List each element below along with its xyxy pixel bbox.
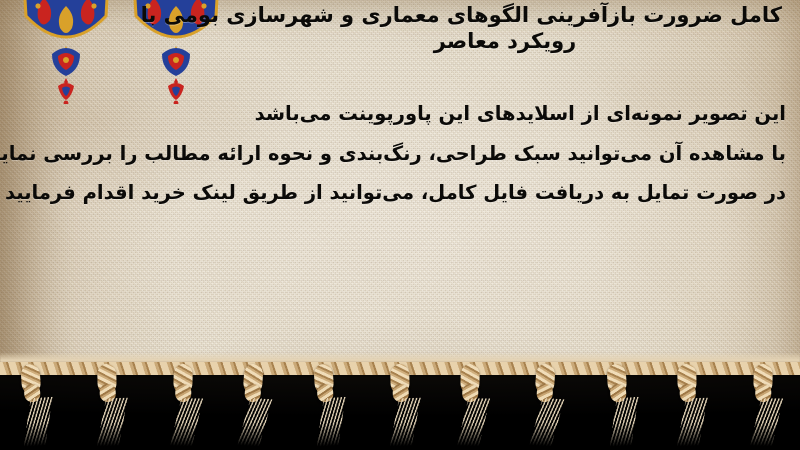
tassel-strands xyxy=(677,398,708,447)
tassel-strands xyxy=(170,398,203,446)
tassel-strands xyxy=(317,397,346,447)
body-line-3: در صورت تمایل به دریافت فایل کامل، می‌تو… xyxy=(30,183,786,203)
slide-title: کامل ضرورت بازآفرینی الگوهای معماری و شه… xyxy=(228,2,782,55)
tassel-strands xyxy=(750,398,783,446)
slide-body-text: این تصویر نمونه‌ای از اسلایدهای این پاور… xyxy=(30,104,786,223)
fringe-tassel xyxy=(528,361,564,449)
fringe-tassel xyxy=(168,362,200,449)
tassel-strands xyxy=(610,397,639,447)
tassel-strands xyxy=(24,397,53,447)
persian-illumination-medallion-icon xyxy=(18,0,114,104)
tassel-strands xyxy=(390,398,421,447)
body-line-1: این تصویر نمونه‌ای از اسلایدهای این پاور… xyxy=(30,104,786,124)
carpet-tassel-fringe-icon xyxy=(0,346,800,450)
fringe-tassel xyxy=(386,362,418,449)
fringe-tassel xyxy=(17,361,53,449)
body-line-2: با مشاهده آن می‌توانید سبک طراحی، رنگ‌بن… xyxy=(30,144,786,164)
tassel-strands xyxy=(97,398,128,447)
tassel-strands xyxy=(457,398,490,446)
fringe-tassel xyxy=(235,361,271,449)
slide-title-line-2: رویکرد معاصر xyxy=(228,28,782,54)
tassel-strands xyxy=(530,398,565,447)
fringe-tassel xyxy=(93,362,125,449)
tassel-strands xyxy=(237,398,272,447)
fringe-tassel-row xyxy=(0,362,800,450)
fringe-tassel xyxy=(673,362,705,449)
fringe-tassel xyxy=(309,361,345,449)
fringe-tassel xyxy=(455,362,487,449)
fringe-tassel xyxy=(602,361,638,449)
presentation-slide: کامل ضرورت بازآفرینی الگوهای معماری و شه… xyxy=(0,0,800,450)
fringe-tassel xyxy=(748,362,780,449)
slide-title-line-1: کامل ضرورت بازآفرینی الگوهای معماری و شه… xyxy=(228,2,782,28)
